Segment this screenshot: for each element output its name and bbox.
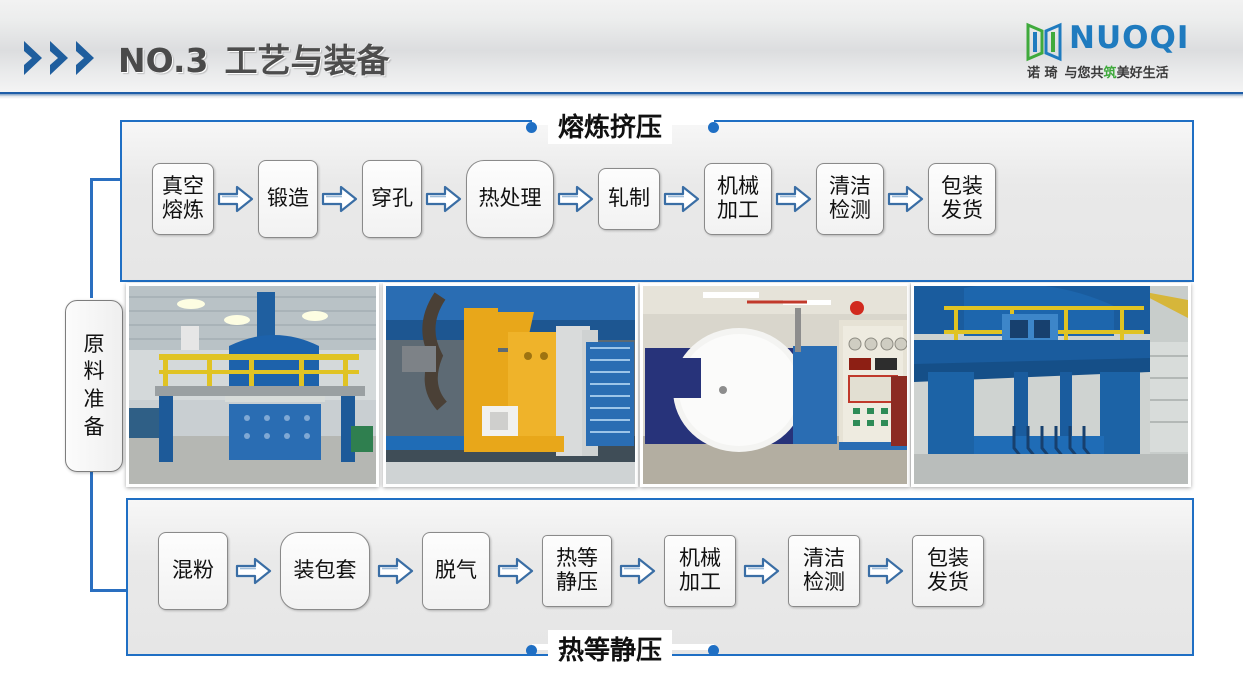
process-step[interactable]: 穿孔 [362, 160, 422, 238]
process-step[interactable]: 清洁检测 [788, 535, 860, 607]
process-step[interactable]: 锻造 [258, 160, 318, 238]
process-step[interactable]: 包装发货 [928, 163, 996, 235]
connector-vertical-bottom [90, 472, 93, 592]
process-step-label: 真空熔炼 [162, 175, 204, 222]
page-title-number: NO.3 [118, 41, 208, 80]
process-step[interactable]: 包装发货 [912, 535, 984, 607]
arrow-right-icon [490, 556, 542, 586]
logo-wordmark: NUOQI [1069, 20, 1189, 56]
process-step-label: 穿孔 [371, 187, 413, 211]
bottom-label-dot-right [708, 645, 719, 656]
logo-tagline-p2: 与您共 [1065, 66, 1104, 81]
process-step-label: 热等静压 [556, 547, 598, 594]
process-step-label: 混粉 [172, 559, 214, 583]
process-step-label: 机械加工 [679, 547, 721, 594]
process-step-label: 脱气 [435, 559, 477, 583]
top-label-dot-left [526, 122, 537, 133]
arrow-right-icon [370, 556, 422, 586]
raw-material-label: 原料准备 [84, 331, 105, 442]
arrow-right-icon [422, 184, 466, 214]
connector-horizontal-top [90, 178, 122, 181]
process-step-label: 清洁检测 [829, 175, 871, 222]
bottom-flow-steps: 混粉装包套脱气热等静压机械加工清洁检测包装发货 [158, 532, 984, 610]
header-divider-highlight [0, 96, 1243, 99]
process-step-label: 装包套 [294, 559, 357, 583]
logo-tagline-p3: 美好生活 [1117, 66, 1169, 81]
arrow-right-icon [736, 556, 788, 586]
raw-material-box[interactable]: 原料准备 [65, 300, 123, 472]
chevron-right-icon [74, 38, 104, 78]
page-title: NO.3工艺与装备 [118, 34, 389, 82]
connector-vertical-top [90, 178, 93, 298]
process-step-label: 包装发货 [927, 547, 969, 594]
chevron-group [22, 38, 122, 78]
arrow-right-icon [612, 556, 664, 586]
bottom-label-dot-left [526, 645, 537, 656]
process-step[interactable]: 热等静压 [542, 535, 612, 607]
process-step-label: 轧制 [608, 187, 650, 211]
process-step[interactable]: 机械加工 [704, 163, 772, 235]
process-step-label: 包装发货 [941, 175, 983, 222]
arrow-right-icon [860, 556, 912, 586]
slide-canvas: NO.3工艺与装备 NUOQI 诺 琦与您共筑美好生活 熔炼挤压 真空熔炼锻造穿… [0, 0, 1243, 696]
arrow-right-icon [318, 184, 362, 214]
connector-horizontal-bottom [90, 589, 128, 592]
process-step[interactable]: 装包套 [280, 532, 370, 610]
logo-tagline-highlight: 筑 [1104, 66, 1117, 81]
arrow-right-icon [660, 184, 704, 214]
arrow-right-icon [214, 184, 258, 214]
arrow-right-icon [554, 184, 598, 214]
process-step-label: 锻造 [267, 187, 309, 211]
company-logo: NUOQI 诺 琦与您共筑美好生活 [1025, 20, 1215, 88]
hip-title: 热等静压 [548, 630, 672, 667]
vacuum-heat-treatment-furnace-photo [640, 283, 910, 487]
page-title-text: 工艺与装备 [224, 41, 389, 80]
logo-tagline-name: 诺 琦 [1027, 66, 1058, 81]
process-step-label: 清洁检测 [803, 547, 845, 594]
top-label-dot-right [708, 122, 719, 133]
process-step-label: 热处理 [479, 187, 542, 211]
process-step[interactable]: 机械加工 [664, 535, 736, 607]
open-book-logo-icon [1025, 22, 1063, 62]
arrow-right-icon [228, 556, 280, 586]
melting-extrusion-title: 熔炼挤压 [548, 107, 672, 144]
arrow-right-icon [884, 184, 928, 214]
extrusion-press-photo [383, 283, 638, 487]
process-step[interactable]: 轧制 [598, 168, 660, 230]
process-step[interactable]: 热处理 [466, 160, 554, 238]
process-step-label: 机械加工 [717, 175, 759, 222]
process-step[interactable]: 真空熔炼 [152, 163, 214, 235]
logo-tagline: 诺 琦与您共筑美好生活 [1027, 62, 1169, 81]
process-step[interactable]: 混粉 [158, 532, 228, 610]
vacuum-melting-furnace-photo [126, 283, 379, 487]
arrow-right-icon [772, 184, 816, 214]
top-flow-steps: 真空熔炼锻造穿孔热处理轧制机械加工清洁检测包装发货 [152, 160, 996, 238]
hip-equipment-photo [911, 283, 1191, 487]
process-step[interactable]: 清洁检测 [816, 163, 884, 235]
process-step[interactable]: 脱气 [422, 532, 490, 610]
